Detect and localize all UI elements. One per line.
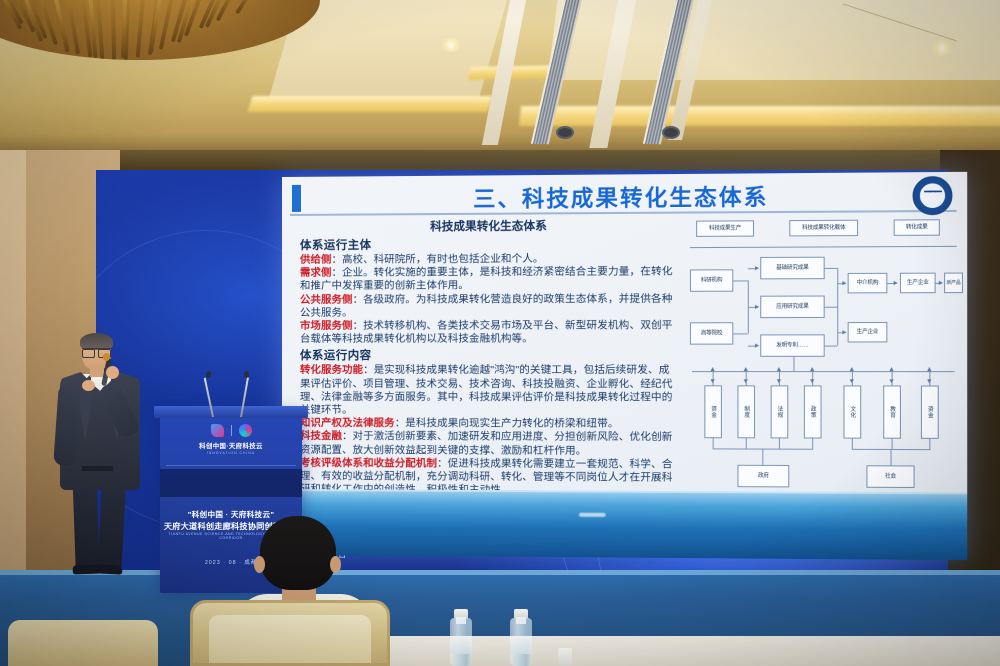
chandelier-body <box>0 0 320 60</box>
slide-column-heading: 科技成果转化生态体系 <box>300 217 680 235</box>
diagram-phase-box: 转化成果 <box>894 219 940 236</box>
microphone-head-icon <box>206 371 211 378</box>
ceiling-cove-light <box>519 106 1000 126</box>
kechuang-china-logo <box>211 424 224 437</box>
water-bottle <box>510 618 532 666</box>
podium-logos <box>160 423 302 438</box>
slide-title: 三、科技成果转化生态体系 <box>292 178 957 215</box>
audience-chair <box>190 600 390 666</box>
audience-chair <box>8 620 158 666</box>
slide-bullet: 需求侧：企业。转化实施的重要主体，是科技和经济紧密结合主要力量，在转化和推广中发… <box>300 266 680 294</box>
bullet-label: 考核评级体系和收益分配机制 <box>300 458 437 470</box>
speaker-belt <box>82 466 113 471</box>
diagram-env-box: 资金 <box>704 385 722 438</box>
podium-branding: 科创中国·天府科技云 INNOVATION CHINA <box>160 423 302 455</box>
bullet-text: ：高校、科研院所，有时也包括企业和个人。 <box>332 254 544 266</box>
diagram-env-box: 制度 <box>737 385 755 438</box>
logo-divider <box>231 425 232 436</box>
diagram-env-box: 教育 <box>883 385 901 438</box>
bullet-text: ：各级政府。为科技成果转化营造良好的政策生态体系，并提供各种公共服务。 <box>300 293 673 318</box>
bullet-label: 知识产权及法律服务 <box>300 418 395 429</box>
bullet-text: ：是科技成果向现实生产力转化的桥梁和纽带。 <box>395 418 619 430</box>
podium-divider <box>166 465 296 466</box>
bullet-text: ：技术转移机构、各类技术交易市场及平台、新型研发机构、双创平台载体等科技成果转化… <box>300 320 673 345</box>
water-bottle <box>450 618 472 666</box>
downlight <box>930 40 954 56</box>
photo-boat-wake <box>579 513 606 517</box>
slide-section-heading-1: 体系运行主体 <box>300 235 680 253</box>
diagram-carrier-box: 中介机构 <box>848 273 888 294</box>
foreground-table <box>390 636 1000 666</box>
bullet-text: ：对于激活创新要素、加速研发和应用进度、分担创新风险、优化创新资源配置、放大创新… <box>300 432 673 457</box>
downlight <box>440 38 462 52</box>
podium-brand-title: 科创中国·天府科技云 <box>160 441 302 450</box>
diagram-env-box: 资金 <box>921 385 939 438</box>
ceiling-cove-light <box>248 96 493 112</box>
vent-diffuser <box>556 126 574 139</box>
speaker-person <box>46 336 156 586</box>
diagram-env-box: 法规 <box>771 385 789 438</box>
chandelier <box>0 0 320 70</box>
bullet-label: 科技金融 <box>300 431 342 442</box>
diagram-producer-box: 高等院校 <box>690 322 733 344</box>
bottle-neck <box>456 617 466 624</box>
university-emblem-icon: ▔▔▔ <box>913 176 953 215</box>
slide-section-heading-2: 体系运行内容 <box>300 347 680 363</box>
vent-diffuser <box>662 126 680 139</box>
bottle-label <box>510 636 532 654</box>
bullet-label: 转化服务功能 <box>300 365 363 376</box>
podium-recess <box>160 469 302 497</box>
diagram-env-box: 政策 <box>804 385 822 438</box>
slide-photo-band <box>282 489 967 560</box>
tianfu-tech-cloud-logo <box>239 424 252 437</box>
emblem-inner: ▔▔▔ <box>919 182 946 209</box>
ecosystem-framework-diagram: 科技成果生产 科技成果转化载体 转化成果 科研机构 高等院校 基础研究成果 应用… <box>690 215 963 523</box>
microphone-head-icon <box>103 353 110 361</box>
diagram-output-box: 应用研究成果 <box>760 296 824 319</box>
bullet-label: 公共服务侧 <box>300 294 353 305</box>
diagram-chain-box: 生产企业 <box>900 273 936 294</box>
speaker-hand <box>82 380 95 391</box>
podium-brand-en: INNOVATION CHINA <box>160 451 302 455</box>
slide-bullet: 科技金融：对于激活创新要素、加速研发和应用进度、分担创新风险、优化创新资源配置、… <box>300 430 680 458</box>
slide-title-bar: 三、科技成果转化生态体系 <box>292 178 957 213</box>
diagram-output-box: 发明专利…… <box>760 334 824 356</box>
ceiling <box>0 0 1000 172</box>
audience-head <box>260 516 336 590</box>
chair-cushion <box>209 615 371 663</box>
slide-bullet: 公共服务侧：各级政府。为科技成果转化营造良好的政策生态体系，并提供各种公共服务。 <box>300 292 680 320</box>
podium-top-surface <box>154 406 308 418</box>
bullet-label: 供给侧 <box>300 255 332 266</box>
diagram-output-box: 基础研究成果 <box>760 257 824 280</box>
diagram-phase-box: 科技成果转化载体 <box>789 220 858 237</box>
left-wall-pilaster <box>0 150 26 570</box>
slide-bullet: 转化服务功能：是实现科技成果转化逾越"鸿沟"的关键工具，包括后续研发、成果评估评… <box>300 364 680 418</box>
diagram-env-box: 文化 <box>843 385 861 438</box>
diagram-footer-box: 政府 <box>737 465 789 488</box>
diagram-phase-box: 科技成果生产 <box>696 220 754 237</box>
bullet-label: 市场服务侧 <box>300 321 353 332</box>
paper-cup <box>558 648 572 666</box>
bottle-neck <box>516 617 526 624</box>
bottle-label <box>450 636 472 654</box>
slide-bullet: 知识产权及法律服务：是科技成果向现实生产力转化的桥梁和纽带。 <box>300 417 680 431</box>
presentation-slide: 三、科技成果转化生态体系 ▔▔▔ 科技成果转化生态体系 体系运行主体 供给侧：高… <box>282 172 967 560</box>
diagram-chain-box: 新产品 <box>944 273 963 294</box>
diagram-producer-box: 科研机构 <box>690 269 733 292</box>
audience-ear <box>254 556 265 573</box>
bullet-label: 需求侧 <box>300 268 332 279</box>
diagram-carrier-box: 生产企业 <box>848 322 888 343</box>
bullet-text: ：企业。转化实施的重要主体，是科技和经济紧密结合主要力量，在转化和推广中发挥重要… <box>300 267 673 293</box>
microphone-head-icon <box>244 371 249 378</box>
conference-photo-scene: 云 科创中国 · 天府科技云 INNOVATION CHINA WWW.TFKJ… <box>0 0 1000 666</box>
audience-ear <box>330 556 341 573</box>
speaker-hand <box>106 366 119 379</box>
slide-bullet: 市场服务侧：技术转移机构、各类技术交易市场及平台、新型研发机构、双创平台载体等科… <box>300 319 680 346</box>
speaker-shoe <box>95 564 122 574</box>
diagram-footer-box: 社会 <box>866 465 914 488</box>
diagram-separator <box>690 246 957 248</box>
